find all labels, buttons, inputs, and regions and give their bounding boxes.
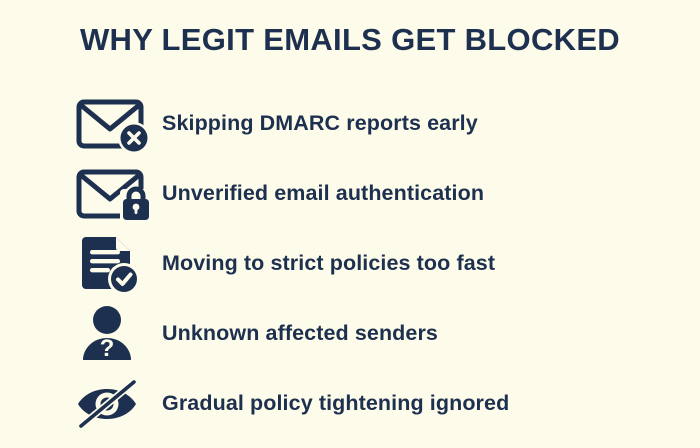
list-item-label: Unknown affected senders [162,323,438,345]
list-item-label: Moving to strict policies too fast [162,253,495,275]
list-item-label: Skipping DMARC reports early [162,113,478,135]
list-item: Moving to strict policies too fast [76,236,676,292]
person-question-icon: ? [76,306,162,362]
envelope-x-icon [76,96,162,152]
list-item: Gradual policy tightening ignored [76,376,676,432]
list-item: Unverified email authentication [76,166,676,222]
list-item-label: Gradual policy tightening ignored [162,393,509,415]
envelope-lock-icon [76,166,162,222]
eye-off-icon [76,376,162,432]
svg-text:?: ? [100,335,115,362]
document-check-icon [76,236,162,292]
list-item: Skipping DMARC reports early [76,96,676,152]
list-item-label: Unverified email authentication [162,183,484,205]
reasons-list: Skipping DMARC reports early Unverified … [76,96,676,446]
list-item: ? Unknown affected senders [76,306,676,362]
infographic-canvas: WHY LEGIT EMAILS GET BLOCKED Skipping DM… [0,0,700,448]
page-title: WHY LEGIT EMAILS GET BLOCKED [0,22,700,58]
